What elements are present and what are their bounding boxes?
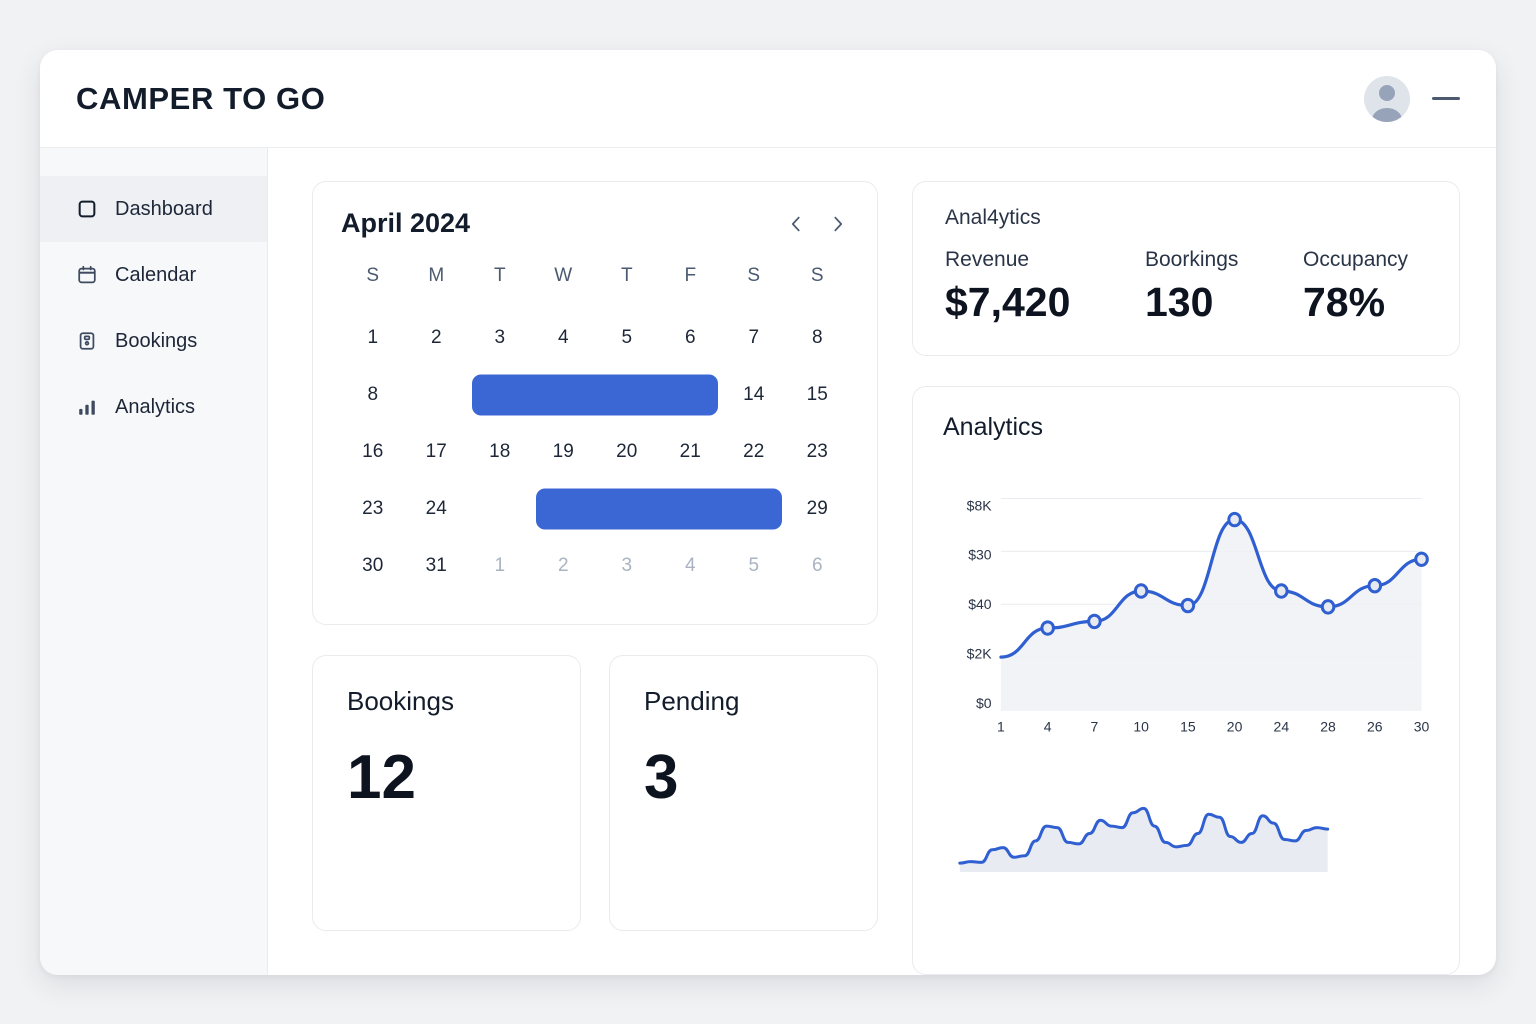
calendar-day-cell[interactable]: 3 [468, 309, 532, 366]
minimize-dash-icon[interactable] [1432, 97, 1460, 100]
sidebar-item-label: Calendar [115, 264, 196, 287]
calendar-day-cell[interactable]: 17 [405, 423, 469, 480]
calendar-day-cell[interactable]: 2 [532, 537, 596, 594]
chevron-left-icon[interactable] [785, 213, 807, 235]
calendar-day-cell[interactable] [532, 480, 786, 537]
calendar-day-label: 7 [748, 327, 759, 349]
calendar-day-label: 18 [489, 441, 510, 463]
calendar-day-cell[interactable]: 20 [595, 423, 659, 480]
chart-xtick-label: 7 [1091, 718, 1099, 734]
calendar-day-label: 19 [553, 441, 574, 463]
calendar-weekday: T [595, 265, 659, 309]
app-window: CAMPER TO GO Dashboard [40, 50, 1496, 975]
chart-ytick-label: $30 [968, 547, 992, 563]
calendar-day-cell[interactable]: 4 [659, 537, 723, 594]
calendar-day-label: 23 [807, 441, 828, 463]
calendar-icon [76, 264, 98, 286]
calendar-day-cell[interactable]: 23 [786, 423, 850, 480]
sparkline-chart [943, 784, 1429, 894]
calendar-day-label: 6 [685, 327, 696, 349]
stat-label: Bookings [347, 686, 546, 717]
kpi-label: Revenue [945, 248, 1145, 272]
calendar-day-cell[interactable]: 15 [786, 366, 850, 423]
calendar-day-cell[interactable]: 5 [595, 309, 659, 366]
calendar-day-label: 3 [621, 555, 632, 577]
avatar-body [1372, 108, 1402, 122]
chart-xtick-label: 24 [1274, 718, 1290, 734]
calendar-day-cell[interactable]: 30 [341, 537, 405, 594]
kpi-row: Revenue $7,420 Boorkings 130 Occupancy 7… [945, 248, 1427, 325]
stat-card-pending: Pending 3 [609, 655, 878, 931]
kpi-value: 78% [1303, 280, 1408, 325]
calendar-weekday: S [341, 265, 405, 309]
calendar-day-label: 14 [743, 384, 764, 406]
calendar-day-label: 24 [426, 498, 447, 520]
calendar-day-cell[interactable]: 3 [595, 537, 659, 594]
top-bar: CAMPER TO GO [40, 50, 1496, 148]
left-column: April 2024 [312, 181, 878, 975]
chart-xtick-label: 1 [997, 718, 1005, 734]
calendar-day-label: 21 [680, 441, 701, 463]
calendar-day-label: 3 [494, 327, 505, 349]
calendar-day-cell[interactable]: 1 [341, 309, 405, 366]
calendar-weekday: F [659, 265, 723, 309]
calendar-day-cell[interactable] [468, 480, 532, 537]
kpi-card-title: Anal4ytics [945, 206, 1427, 230]
calendar-day-cell[interactable]: 23 [341, 480, 405, 537]
calendar-day-cell[interactable]: 22 [722, 423, 786, 480]
sidebar: Dashboard Calendar [40, 148, 268, 975]
calendar-day-label: 15 [807, 384, 828, 406]
calendar-day-cell[interactable]: 7 [722, 309, 786, 366]
avatar-head [1379, 85, 1395, 101]
kpi-revenue: Revenue $7,420 [945, 248, 1145, 325]
sidebar-item-label: Analytics [115, 396, 195, 419]
calendar-day-cell[interactable]: 19 [532, 423, 596, 480]
chart-ytick-label: $2K [967, 646, 993, 662]
calendar-day-label: 29 [807, 498, 828, 520]
main-content: April 2024 [268, 148, 1496, 975]
calendar-weekday: W [532, 265, 596, 309]
calendar-day-label: 30 [362, 555, 383, 577]
chart-xtick-label: 28 [1320, 718, 1336, 734]
calendar-day-cell[interactable]: 24 [405, 480, 469, 537]
stat-card-bookings: Bookings 12 [312, 655, 581, 931]
calendar-day-cell[interactable]: 4 [532, 309, 596, 366]
calendar-day-label: 6 [812, 555, 823, 577]
chart-xtick-label: 30 [1414, 718, 1429, 734]
sidebar-item-dashboard[interactable]: Dashboard [40, 176, 267, 242]
kpi-occupancy: Occupancy 78% [1303, 248, 1408, 325]
calendar-day-label: 31 [426, 555, 447, 577]
chart-ytick-label: $8K [967, 497, 993, 513]
chart-xtick-label: 10 [1133, 718, 1149, 734]
calendar-day-label: 20 [616, 441, 637, 463]
calendar-day-cell[interactable]: 14 [722, 366, 786, 423]
chart-ytick-label: $0 [976, 695, 992, 711]
kpi-value: $7,420 [945, 280, 1145, 325]
booking-bar[interactable] [472, 374, 718, 415]
calendar-day-label: 2 [431, 327, 442, 349]
calendar-day-cell[interactable] [405, 366, 469, 423]
calendar-day-label: 1 [367, 327, 378, 349]
calendar-day-cell[interactable]: 8 [341, 366, 405, 423]
calendar-weekday: S [722, 265, 786, 309]
calendar-day-label: 8 [812, 327, 823, 349]
calendar-day-label: 22 [743, 441, 764, 463]
stat-card-row: Bookings 12 Pending 3 [312, 655, 878, 931]
calendar-day-label: 16 [362, 441, 383, 463]
stat-value: 3 [644, 747, 843, 809]
calendar-day-cell[interactable]: 8 [786, 309, 850, 366]
calendar-day-cell[interactable]: 21 [659, 423, 723, 480]
calendar-day-label: 4 [685, 555, 696, 577]
calendar-day-label: 17 [426, 441, 447, 463]
calendar-day-cell[interactable]: 16 [341, 423, 405, 480]
kpi-card: Anal4ytics Revenue $7,420 Boorkings 130 … [912, 181, 1460, 356]
calendar-nav [785, 213, 849, 235]
calendar-day-label: 1 [494, 555, 505, 577]
calendar-day-cell[interactable] [468, 366, 722, 423]
sidebar-item-analytics[interactable]: Analytics [40, 374, 267, 440]
calendar-day-label: 5 [621, 327, 632, 349]
calendar-day-label: 8 [367, 384, 378, 406]
calendar-card: April 2024 [312, 181, 878, 625]
calendar-day-label: 23 [362, 498, 383, 520]
sidebar-item-label: Dashboard [115, 198, 213, 221]
calendar-weekday: T [468, 265, 532, 309]
calendar-day-label: 5 [748, 555, 759, 577]
page-title: CAMPER TO GO [76, 81, 325, 117]
stat-value: 12 [347, 747, 546, 809]
calendar-weekday: M [405, 265, 469, 309]
calendar-day-label: 4 [558, 327, 569, 349]
chart-title: Analytics [943, 413, 1429, 442]
booking-bar[interactable] [536, 488, 782, 529]
kpi-label: Occupancy [1303, 248, 1408, 272]
bar-chart-icon [76, 396, 98, 418]
calendar-day-cell[interactable]: 6 [659, 309, 723, 366]
chart-xtick-label: 26 [1367, 718, 1383, 734]
chart-xtick-label: 4 [1044, 718, 1052, 734]
sparkline-area-fill [960, 808, 1328, 872]
calendar-header: April 2024 [341, 208, 849, 239]
sidebar-item-bookings[interactable]: Bookings [40, 308, 267, 374]
analytics-chart-card: Analytics $8K$30$40$2K$01471015202428263… [912, 386, 1460, 975]
kpi-bookings: Boorkings 130 [1145, 248, 1303, 325]
calendar-day-cell[interactable]: 29 [786, 480, 850, 537]
sidebar-item-label: Bookings [115, 330, 197, 353]
calendar-day-label: 2 [558, 555, 569, 577]
calendar-grid: SMTWTFSS12345678814151617181920212223232… [341, 265, 849, 594]
avatar[interactable] [1364, 76, 1410, 122]
calendar-title: April 2024 [341, 208, 470, 239]
line-chart: $8K$30$40$2K$014710152024282630 [943, 458, 1429, 758]
booking-box-icon [76, 330, 98, 352]
kpi-label: Boorkings [1145, 248, 1303, 272]
topbar-right-group [1364, 76, 1460, 122]
calendar-day-cell[interactable]: 18 [468, 423, 532, 480]
window-body: Dashboard Calendar [40, 148, 1496, 975]
calendar-day-cell[interactable]: 5 [722, 537, 786, 594]
chevron-right-icon[interactable] [827, 213, 849, 235]
square-dashboard-icon [76, 198, 98, 220]
calendar-day-cell[interactable]: 1 [468, 537, 532, 594]
stat-label: Pending [644, 686, 843, 717]
sidebar-item-calendar[interactable]: Calendar [40, 242, 267, 308]
calendar-day-cell[interactable]: 2 [405, 309, 469, 366]
chart-xtick-label: 15 [1180, 718, 1196, 734]
chart-xtick-label: 20 [1227, 718, 1243, 734]
calendar-weekday: S [786, 265, 850, 309]
right-column: Anal4ytics Revenue $7,420 Boorkings 130 … [912, 181, 1460, 975]
kpi-value: 130 [1145, 280, 1303, 325]
chart-ytick-label: $40 [968, 596, 992, 612]
calendar-day-cell[interactable]: 6 [786, 537, 850, 594]
calendar-day-cell[interactable]: 31 [405, 537, 469, 594]
